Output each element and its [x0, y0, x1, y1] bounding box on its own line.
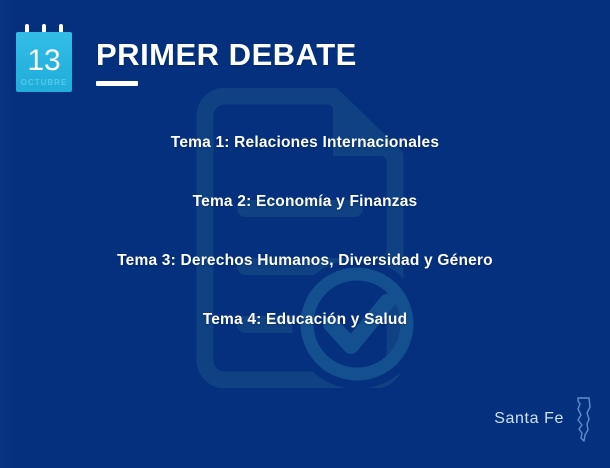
topic-item-4: Tema 4: Educación y Salud	[0, 309, 610, 330]
calendar-month: OCTUBRE	[16, 78, 72, 87]
title-block: PRIMER DEBATE	[96, 24, 357, 86]
title-underline-rule	[96, 81, 138, 86]
calendar-day: 13	[16, 46, 72, 76]
page-title: PRIMER DEBATE	[96, 38, 357, 72]
logo-text: Santa Fe	[494, 410, 564, 428]
topic-list: Tema 1: Relaciones Internacionales Tema …	[0, 132, 610, 368]
slide-header: 13 OCTUBRE PRIMER DEBATE	[16, 24, 357, 92]
calendar-icon: 13 OCTUBRE	[16, 24, 72, 92]
topic-item-1: Tema 1: Relaciones Internacionales	[0, 132, 610, 153]
santa-fe-logo: Santa Fe	[494, 396, 594, 442]
santa-fe-province-outline-icon	[572, 396, 594, 442]
topic-item-2: Tema 2: Economía y Finanzas	[0, 191, 610, 212]
slide-canvas: 13 OCTUBRE PRIMER DEBATE Tema 1: Relacio…	[0, 0, 610, 468]
topic-item-3: Tema 3: Derechos Humanos, Diversidad y G…	[0, 250, 610, 271]
